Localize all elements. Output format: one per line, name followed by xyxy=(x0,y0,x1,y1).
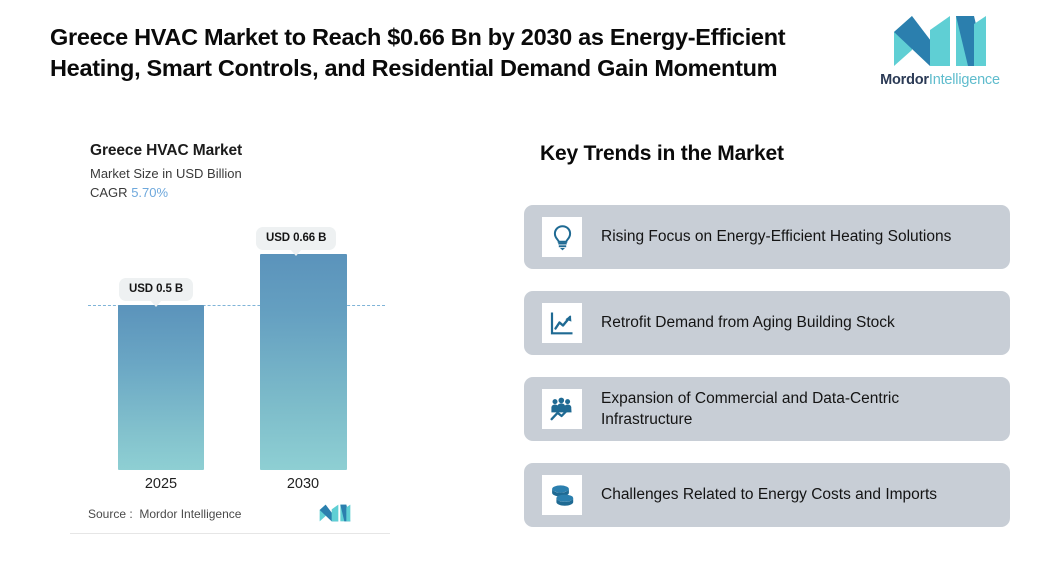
mordor-intelligence-logo-mark xyxy=(890,14,990,68)
trend-card-retrofit-demand[interactable]: Retrofit Demand from Aging Building Stoc… xyxy=(524,291,1010,355)
x-axis-label-2030: 2030 xyxy=(248,476,358,492)
bar-2025 xyxy=(118,305,204,470)
key-trends-title: Key Trends in the Market xyxy=(540,142,784,166)
chart-source-label: Source : xyxy=(88,507,133,521)
brand-logo: MordorIntelligence xyxy=(875,14,1005,90)
bar-value-label-2030: USD 0.66 B xyxy=(256,227,336,250)
people-growth-icon xyxy=(542,389,582,429)
bar-value-label-2025: USD 0.5 B xyxy=(119,278,193,301)
page-header: Greece HVAC Market to Reach $0.66 Bn by … xyxy=(0,0,1062,110)
trend-label: Expansion of Commercial and Data-Centric… xyxy=(601,388,991,430)
logo-word-mordor: Mordor xyxy=(880,72,929,88)
key-trends-panel: Key Trends in the Market Rising Focus on… xyxy=(524,136,1014,540)
trend-label: Rising Focus on Energy-Efficient Heating… xyxy=(601,226,951,247)
chart-source-value: Mordor Intelligence xyxy=(139,507,241,521)
line-chart-up-icon xyxy=(542,303,582,343)
bar-2030 xyxy=(260,254,347,470)
page-title-line-1: Greece HVAC Market to Reach $0.66 Bn by … xyxy=(50,22,860,53)
source-logo-mark xyxy=(318,504,352,522)
trend-card-energy-costs-imports[interactable]: Challenges Related to Energy Costs and I… xyxy=(524,463,1010,527)
trend-label: Retrofit Demand from Aging Building Stoc… xyxy=(601,312,895,333)
x-axis-label-2025: 2025 xyxy=(106,476,216,492)
key-trends-list: Rising Focus on Energy-Efficient Heating… xyxy=(524,205,1014,549)
market-size-chart-card: Greece HVAC Market Market Size in USD Bi… xyxy=(60,128,400,540)
page-title-line-2: Heating, Smart Controls, and Residential… xyxy=(50,53,860,84)
lightbulb-icon xyxy=(542,217,582,257)
chart-bottom-divider xyxy=(70,533,390,534)
trend-label: Challenges Related to Energy Costs and I… xyxy=(601,484,937,505)
logo-wordmark: MordorIntelligence xyxy=(875,72,1005,88)
logo-word-intelligence: Intelligence xyxy=(929,72,1000,88)
trend-card-energy-efficient-heating[interactable]: Rising Focus on Energy-Efficient Heating… xyxy=(524,205,1010,269)
coins-stack-icon xyxy=(542,475,582,515)
trend-card-commercial-data-infrastructure[interactable]: Expansion of Commercial and Data-Centric… xyxy=(524,377,1010,441)
chart-source: Source : Mordor Intelligence xyxy=(88,507,241,521)
page-title: Greece HVAC Market to Reach $0.66 Bn by … xyxy=(50,22,860,84)
bar-chart-plot-area: USD 0.5 B USD 0.66 B 2025 2030 xyxy=(60,128,400,540)
